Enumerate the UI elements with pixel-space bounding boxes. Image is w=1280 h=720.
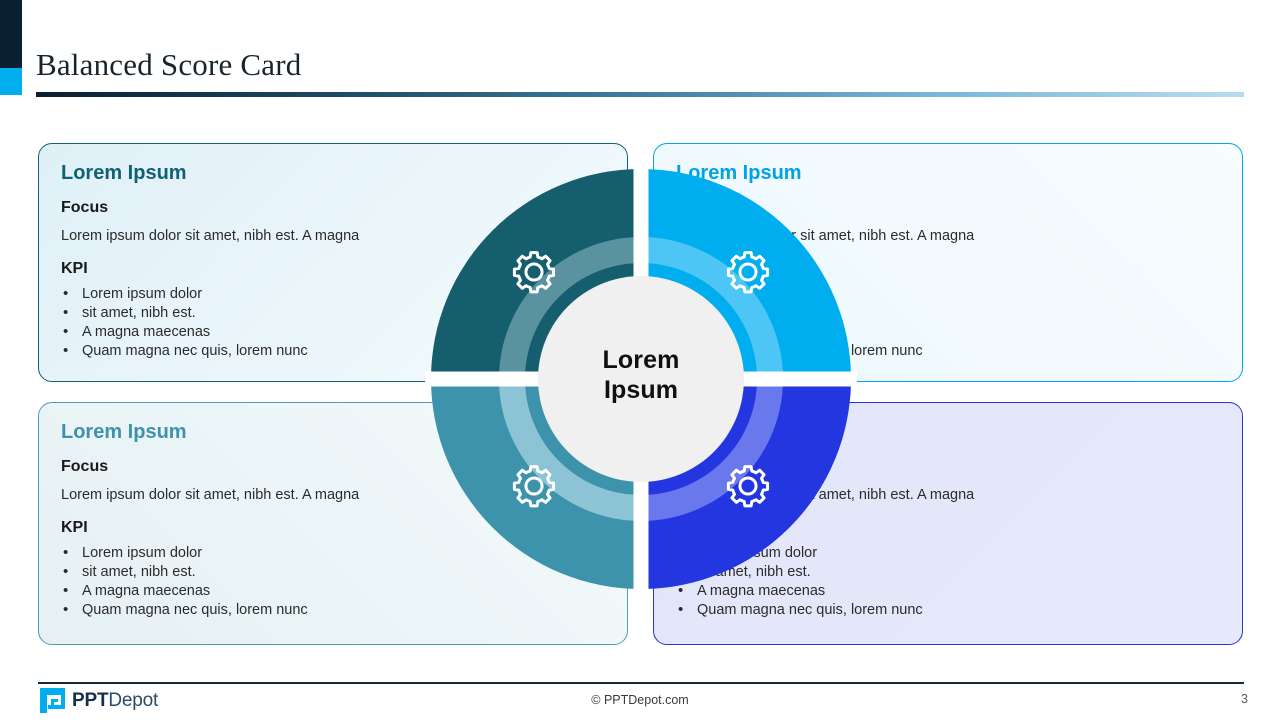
slide-canvas: Balanced Score Card Lorem Ipsum Focus Lo… — [0, 0, 1280, 720]
wheel-center-label: Lorem Ipsum — [553, 346, 729, 405]
edge-navy-block — [0, 0, 22, 68]
title-divider — [36, 92, 1244, 97]
list-item: Quam magna nec quis, lorem nunc — [61, 601, 605, 620]
page-number: 3 — [1241, 692, 1248, 706]
center-line-2: Ipsum — [604, 376, 678, 404]
footer-divider — [38, 682, 1244, 684]
copyright-text: © PPTDepot.com — [0, 693, 1280, 707]
page-title: Balanced Score Card — [36, 47, 301, 83]
list-item: Quam magna nec quis, lorem nunc — [676, 601, 1220, 620]
edge-cyan-block — [0, 68, 22, 95]
petal-corner-mask — [425, 303, 465, 343]
center-line-1: Lorem — [603, 346, 680, 374]
